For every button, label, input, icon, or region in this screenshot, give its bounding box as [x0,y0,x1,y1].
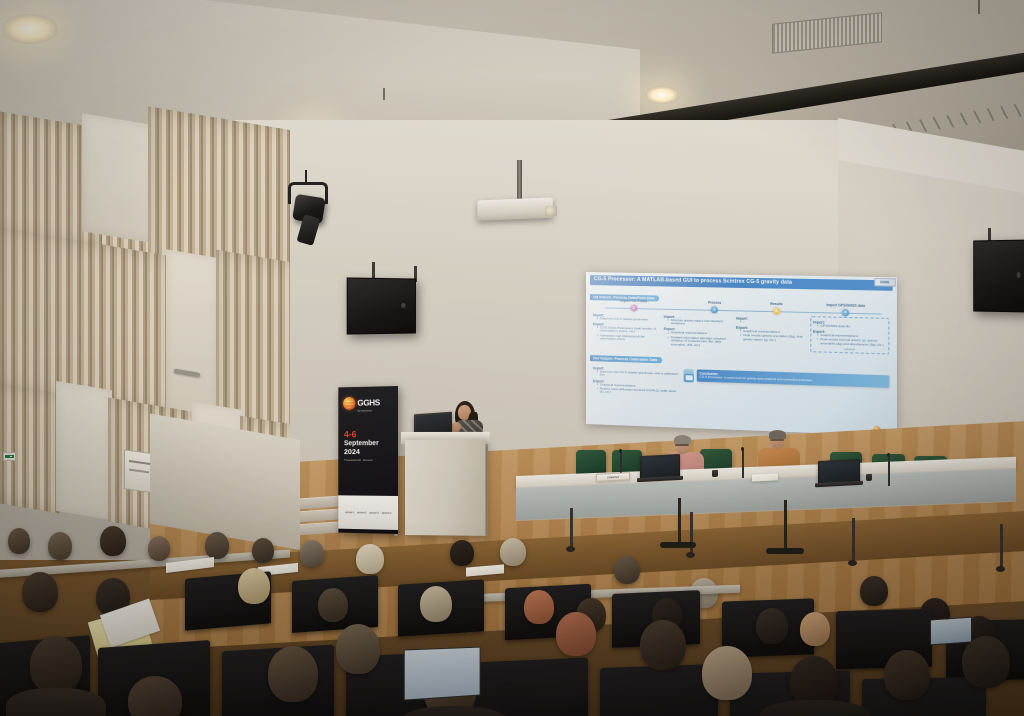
pa-speaker [347,277,416,334]
list-item: Results (new calibration constant (GCAL1… [597,387,680,397]
column-list: CG-5 Setup Parameters (total number of o… [593,326,662,343]
flow-step-caption: Import CG-5 data [620,299,647,304]
exit-sign-green-plate [5,455,14,459]
ceiling-hook [978,0,980,14]
wall-plain-panel [82,113,154,243]
flow-step-caption: Results [770,302,782,306]
column-list: Absolute gravity values and standard dev… [664,318,734,327]
coffee-cup [712,470,718,477]
projection-screen: CG-5 Processor: A MATLAB-based GUI to pr… [586,272,897,436]
flow-step-caption: Process [708,301,721,305]
audience-head [48,532,72,560]
column-list: Graphical representations Final results … [736,330,808,344]
ceiling-projector [477,197,553,220]
projector-lens [545,206,557,216]
chair-leg [678,498,681,548]
panel-papers [752,473,778,481]
chair-base [766,548,804,554]
globe-icon [343,397,355,410]
banner-location: Thessaloniki, Greece [344,458,373,462]
table-microphone-head [887,453,890,457]
sponsor-logo: sponsor-2 [357,511,366,514]
table-microphone-head [619,449,622,453]
slide-section-pill: 2nd feature: Process Calibration Data [590,355,662,363]
panelist-hair [674,435,691,444]
table-caster [686,552,695,558]
list-item: Interactive map displaying all the obser… [597,334,662,343]
slide-column-process: Import: Absolute gravity values and stan… [664,313,734,351]
ceiling-hook [383,88,385,100]
slide-conclusion-box: Conclusion: CG-5 Processor: a useful too… [696,369,889,388]
flow-step-node: 3 [773,307,780,314]
sponsor-logo: sponsor-3 [369,511,378,514]
panelist-glasses [675,444,689,446]
table-caster [848,560,857,566]
table-leg [852,518,855,562]
flow-step-node: 1 [630,304,637,311]
banner-year: 2024 [344,448,360,455]
banner-logo-text: GGHS [357,399,380,408]
table-microphone-head [741,447,744,451]
chair-base [660,542,696,548]
slide-bottom-zone: Import: Data from the CG-5 relative grav… [593,366,889,405]
column-list: Graphical representations Results (new c… [593,383,680,398]
table-caster [996,566,1005,572]
slide-columns: Import: Data from CG-5 relative gravimet… [593,311,889,355]
projector-mount-pole [517,160,522,202]
banner-subtitle: Symposium [357,409,372,412]
presentation-slide: CG-5 Processor: A MATLAB-based GUI to pr… [586,272,897,436]
table-leg [570,508,573,548]
exit-sign-icon [3,452,16,461]
lectern-podium [405,439,485,536]
slide-column-results: Import: - Export: Graphical representati… [736,314,808,352]
optional-tag: optional [813,346,886,352]
banner-sponsor-strip: sponsor-1 sponsor-2 sponsor-3 sponsor-4 [338,495,398,530]
list-item: Absolute gravity values and standard dev… [668,319,734,328]
slide-calibration-column: Import: Data from the CG-5 relative grav… [593,366,680,398]
flow-step-node: 2 [711,306,718,313]
ceiling-downlight [645,86,679,104]
chair-leg [784,500,787,554]
banner-logo: GGHS [343,396,380,410]
banner-date-range: 4-6 [344,430,356,439]
column-list: Graphical representations Detailed infor… [664,331,734,348]
panelist-glasses [770,439,784,441]
coffee-cup [866,474,872,481]
slide-column-gnss: Import: GPS/GNSS data file Export: Graph… [810,316,890,355]
slat-block [0,380,60,513]
ceiling-downlight [2,14,58,44]
flow-step-caption: Import GPS/GNSS data [826,303,865,308]
list-item: Detailed information (average standard d… [668,336,734,349]
list-item: Final results (gravity anomalies (Δg), f… [740,334,808,343]
table-leg [1000,524,1003,568]
table-microphone-stem [742,450,744,478]
database-icon [683,369,693,383]
table-caster [566,546,575,552]
slide-column-import: Import: Data from CG-5 relative gravimet… [593,311,662,348]
flow-step-node: 4 [842,309,849,316]
table-microphone-stem [888,456,890,486]
panelist-hair [769,430,786,439]
slide-title: CG-5 Processor: A MATLAB-based GUI to pr… [590,275,893,291]
pa-speaker [973,239,1024,312]
lecture-hall-photo: CG-5 Processor: A MATLAB-based GUI to pr… [0,0,1024,716]
sponsor-logo: sponsor-1 [345,511,354,514]
wall-plain-panel [56,381,112,520]
slide-corner-logo: GGHS [874,278,896,287]
column-list: Graphical representations Final results … [813,334,886,348]
sponsor-logo: sponsor-4 [382,511,391,514]
conference-banner: GGHS Symposium 4-6 September 2024 Thessa… [338,386,398,534]
audience-head [8,528,30,554]
